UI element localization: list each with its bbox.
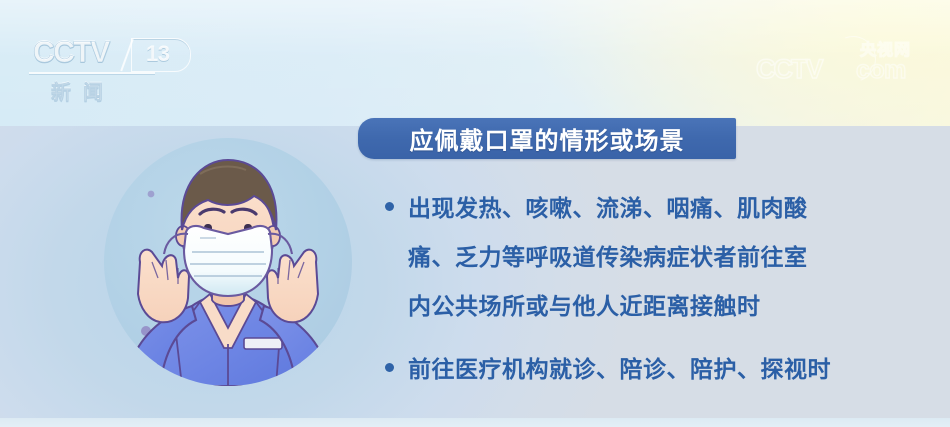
watermark-domain: com: [856, 56, 906, 85]
list-item: 前往医疗机构就诊、陪诊、陪护、探视时: [380, 345, 940, 394]
channel-slash-icon: [120, 39, 134, 72]
channel-subtitle: 新闻: [51, 76, 115, 105]
channel-number-badge: 13: [131, 38, 191, 72]
page-title: 应佩戴口罩的情形或场景: [410, 121, 685, 156]
channel-number: 13: [146, 41, 169, 67]
mask-person-figure: [104, 138, 352, 386]
panel-footer-strip: [0, 418, 950, 427]
cctv-com-watermark: CCTV 央视网 com: [752, 34, 932, 94]
bullet-dot-icon: [385, 202, 394, 211]
bullet-line: 内公共场所或与他人近距离接触时: [408, 282, 940, 331]
person-wearing-mask-illustration: [104, 138, 352, 386]
bullet-dot-icon: [385, 363, 394, 372]
broadcast-infographic-screen: CCTV 13 新闻 CCTV 央视网 com: [0, 0, 950, 427]
card-title-banner: 应佩戴口罩的情形或场景: [358, 118, 736, 159]
bullet-line: 痛、乏力等呼吸道传染病症状者前往室: [408, 233, 940, 282]
channel-underline: [29, 72, 155, 74]
watermark-wordmark: CCTV: [756, 54, 822, 85]
bullet-line: 前往医疗机构就诊、陪诊、陪护、探视时: [408, 345, 940, 394]
bullet-line: 出现发热、咳嗽、流涕、咽痛、肌肉酸: [408, 184, 940, 233]
cctv-13-logo: CCTV 13 新闻: [27, 36, 187, 104]
channel-wordmark: CCTV: [33, 36, 109, 70]
bullet-list: 出现发热、咳嗽、流涕、咽痛、肌肉酸 痛、乏力等呼吸道传染病症状者前往室 内公共场…: [380, 184, 940, 408]
list-item: 出现发热、咳嗽、流涕、咽痛、肌肉酸 痛、乏力等呼吸道传染病症状者前往室 内公共场…: [380, 184, 940, 331]
